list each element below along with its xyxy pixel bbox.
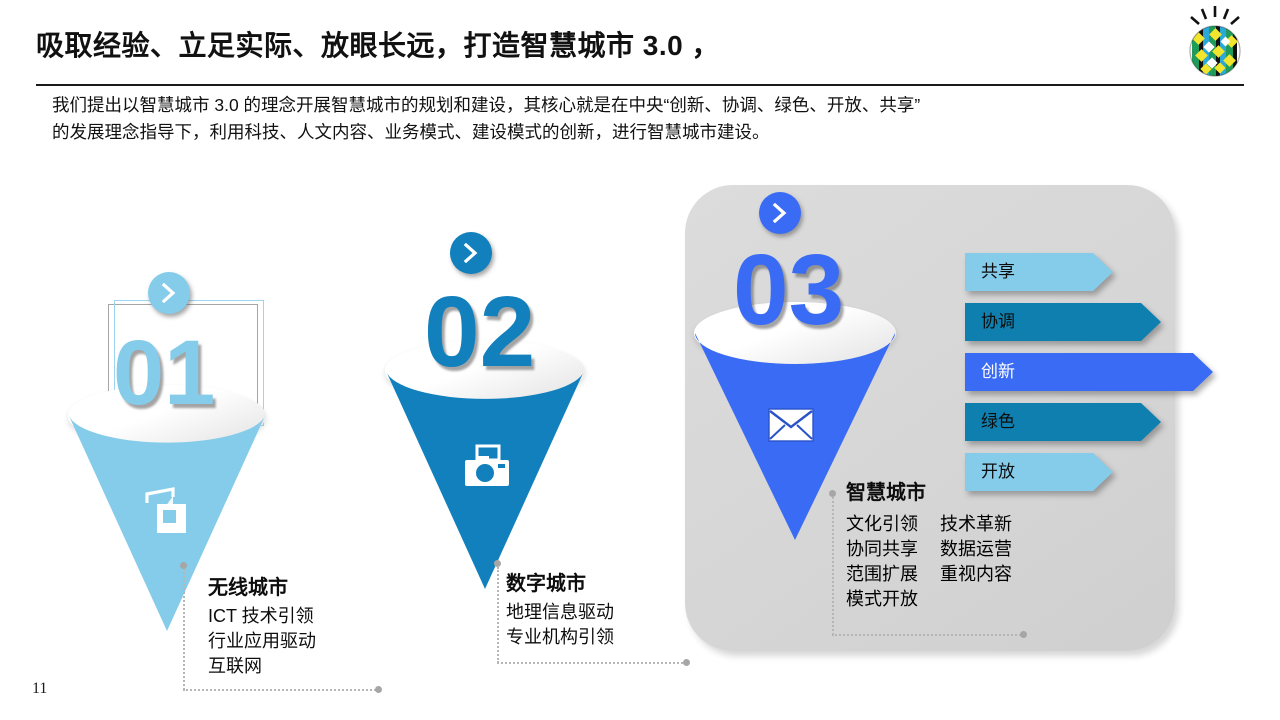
- stage-1-line-2: 行业应用驱动: [208, 629, 316, 654]
- stage-3-c2-line-3: 重视内容: [940, 562, 1012, 587]
- arrow-banner-green[interactable]: 绿色: [965, 403, 1161, 441]
- stage-3-c1-line-2: 协同共享: [846, 537, 918, 562]
- stage-3-c1-line-3: 范围扩展: [846, 562, 918, 587]
- stage-3-c2-line-1: 技术革新: [940, 512, 1012, 537]
- stage-1-callout-dot-end: [375, 686, 382, 693]
- stage-3-number: 03: [733, 240, 844, 340]
- stage-1-callout-hline: [183, 689, 380, 691]
- stage-1-number: 01: [113, 327, 215, 419]
- envelope-icon: [768, 408, 814, 447]
- stage-2-callout-dot-top: [494, 560, 501, 567]
- stage-2-callout-hline: [497, 662, 687, 664]
- stage-1-callout-dot-top: [180, 562, 187, 569]
- arrow-label-share: 共享: [965, 253, 1015, 291]
- page-title: 吸取经验、立足实际、放眼长远，打造智慧城市 3.0 ，: [36, 24, 856, 64]
- stage-2-callout-dot-end: [683, 659, 690, 666]
- stage-1-chevron-badge[interactable]: [148, 272, 190, 314]
- page-number: 11: [32, 680, 47, 698]
- stage-1-callout-vline: [183, 569, 185, 690]
- stage-2-chevron-badge[interactable]: [450, 232, 492, 274]
- copy-document-icon: [140, 483, 198, 546]
- lead-paragraph: 我们提出以智慧城市 3.0 的理念开展智慧城市的规划和建设，其核心就是在中央“创…: [52, 92, 1232, 146]
- stage-3-c1-line-1: 文化引领: [846, 512, 918, 537]
- arrow-banner-coordinate[interactable]: 协调: [965, 303, 1161, 341]
- stage-3-c2-line-2: 数据运营: [940, 537, 1012, 562]
- camera-icon: [459, 440, 515, 501]
- stage-3-heading: 智慧城市: [846, 481, 926, 505]
- stage-3-callout-dot-top: [829, 490, 836, 497]
- stage-3-callout-hline: [832, 634, 1024, 636]
- stage-1-line-1: ICT 技术引领: [208, 604, 316, 629]
- stage-2-line-2: 专业机构引领: [506, 625, 614, 650]
- stage-1-heading: 无线城市: [208, 576, 288, 600]
- stage-3-callout-dot-end: [1020, 631, 1027, 638]
- slide-root: 吸取经验、立足实际、放眼长远，打造智慧城市 3.0 ，: [0, 0, 1280, 720]
- stage-2-callout-vline: [497, 567, 499, 663]
- chevron-right-icon: [160, 283, 178, 303]
- arrow-label-green: 绿色: [965, 403, 1015, 441]
- arrow-label-innovate: 创新: [965, 353, 1015, 391]
- chevron-right-icon: [771, 203, 789, 223]
- arrow-label-coordinate: 协调: [965, 303, 1015, 341]
- stage-2-line-1: 地理信息驱动: [506, 600, 614, 625]
- lead-line-1: 我们提出以智慧城市 3.0 的理念开展智慧城市的规划和建设，其核心就是在中央“创…: [52, 95, 920, 115]
- stage-3-column-1: 文化引领 协同共享 范围扩展 模式开放: [846, 512, 918, 612]
- smarter-planet-logo: [1178, 4, 1252, 80]
- stage-3-c1-line-4: 模式开放: [846, 587, 918, 612]
- stage-3: 03 智慧城市 文化引领 协同共享 范围扩展 模式开放: [0, 0, 1, 1]
- lead-line-2: 的发展理念指导下，利用科技、人文内容、业务模式、建设模式的创新，进行智慧城市建设…: [52, 119, 1232, 146]
- stage-3-callout-vline: [832, 497, 834, 635]
- chevron-right-icon: [462, 243, 480, 263]
- stage-2-heading: 数字城市: [506, 572, 586, 596]
- stage-3-chevron-badge[interactable]: [759, 192, 801, 234]
- stage-1-line-3: 互联网: [208, 654, 316, 679]
- arrow-banner-share[interactable]: 共享: [965, 253, 1113, 291]
- arrow-banner-open[interactable]: 开放: [965, 453, 1113, 491]
- arrow-label-open: 开放: [965, 453, 1015, 491]
- stage-2-number: 02: [424, 282, 535, 382]
- title-divider: [36, 84, 1244, 86]
- stage-3-column-2: 技术革新 数据运营 重视内容: [940, 512, 1012, 612]
- arrow-banner-innovate[interactable]: 创新: [965, 353, 1213, 391]
